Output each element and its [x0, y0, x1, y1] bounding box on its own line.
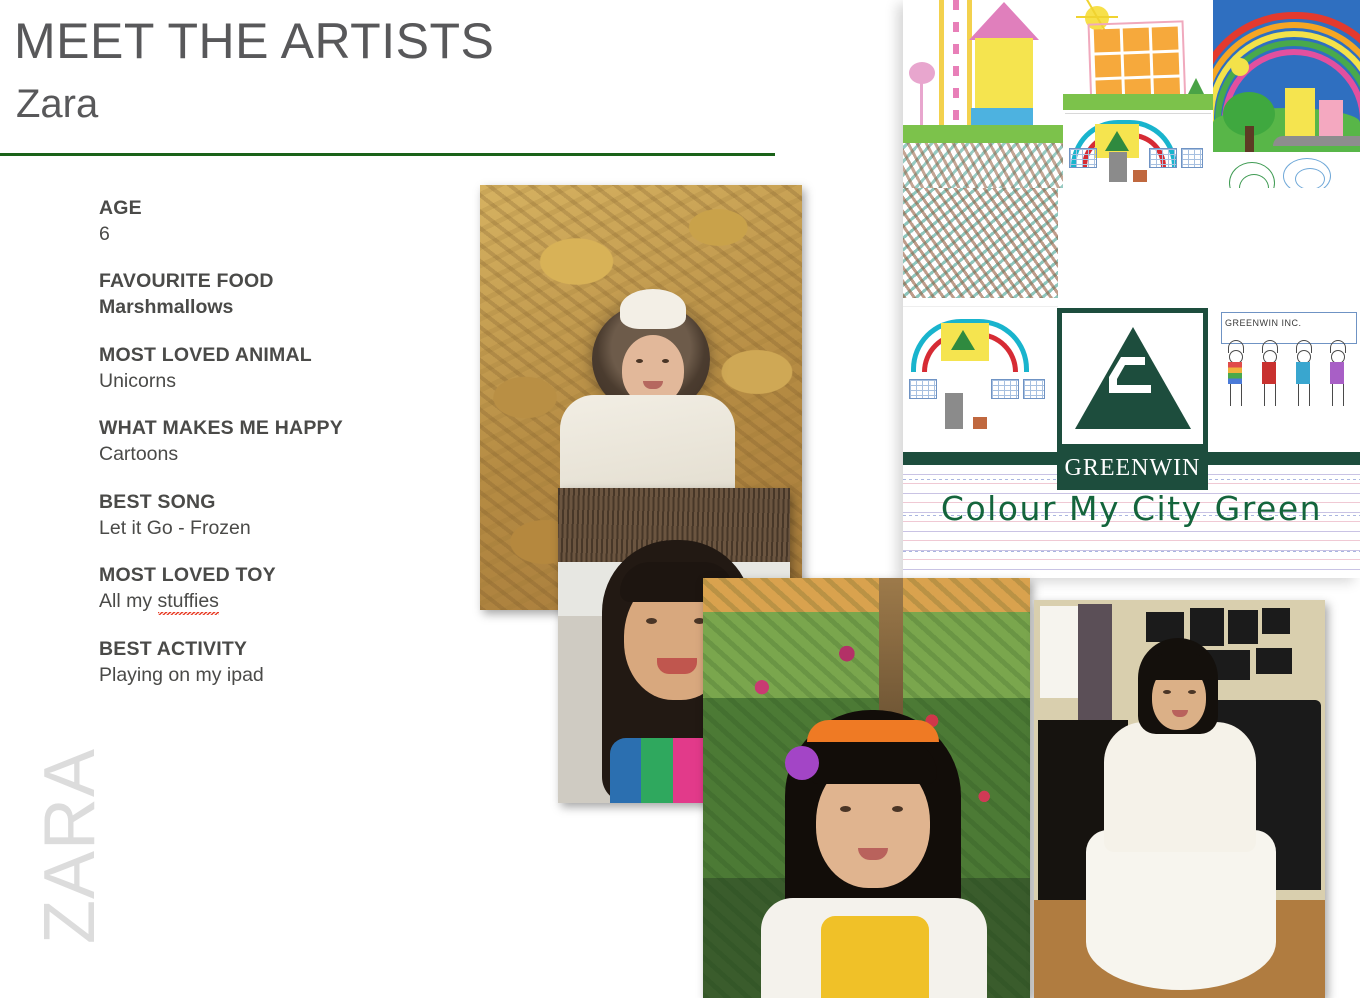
greenwin-logo: GREENWIN	[1057, 308, 1208, 490]
fact-best-song: BEST SONG Let it Go - Frozen	[99, 490, 479, 541]
greenwin-logo-plate	[1062, 313, 1203, 444]
fact-label: MOST LOVED ANIMAL	[99, 343, 479, 369]
drawing-kids-banner: GREENWIN INC.	[1215, 306, 1360, 436]
fact-most-loved-toy: MOST LOVED TOY All my stuffies	[99, 563, 479, 614]
fact-value: Unicorns	[99, 369, 176, 395]
drawing-banner-text: GREENWIN INC.	[1225, 318, 1302, 328]
page-subtitle: Zara	[16, 82, 98, 126]
fact-most-loved-animal: MOST LOVED ANIMAL Unicorns	[99, 343, 479, 394]
sun-smiley-icon	[1231, 58, 1249, 76]
fact-label: BEST SONG	[99, 490, 479, 516]
fact-label: BEST ACTIVITY	[99, 637, 479, 663]
fact-label: WHAT MAKES ME HAPPY	[99, 416, 479, 442]
photo-dress	[1034, 600, 1325, 998]
fact-what-makes-me-happy: WHAT MAKES ME HAPPY Cartoons	[99, 416, 479, 467]
drawing-brown-teal-scribble	[903, 188, 1058, 298]
zara-watermark: ZARA	[34, 731, 106, 961]
profile-fact-list: AGE 6 FAVOURITE FOOD Marshmallows MOST L…	[99, 196, 479, 688]
greenwin-wordmark: GREENWIN	[1057, 455, 1208, 482]
title-divider	[0, 153, 775, 156]
fact-value: 6	[99, 222, 110, 248]
drawing-arch-house	[903, 306, 1058, 437]
misspelled-word: stuffies	[158, 590, 219, 615]
fact-label: AGE	[99, 196, 479, 222]
fact-label: MOST LOVED TOY	[99, 563, 479, 589]
fact-value: Cartoons	[99, 442, 178, 468]
photo-garden	[703, 578, 1030, 998]
fact-age: AGE 6	[99, 196, 479, 247]
fact-value: Playing on my ipad	[99, 663, 264, 689]
fact-favourite-food: FAVOURITE FOOD Marshmallows	[99, 269, 479, 320]
artwork-panel: GREENWIN INC. GREENWIN Colour My City Gr…	[903, 0, 1360, 578]
fact-label: FAVOURITE FOOD	[99, 269, 479, 295]
fact-value-prefix: All my	[99, 590, 158, 612]
fact-value: Marshmallows	[99, 295, 233, 321]
artwork-middle-row: GREENWIN INC. GREENWIN	[903, 188, 1360, 453]
drawing-castle	[903, 0, 1063, 188]
drawing-grid-building	[1063, 0, 1213, 188]
artwork-caption: Colour My City Green	[903, 489, 1360, 528]
fact-value: All my stuffies	[99, 589, 219, 615]
greenwin-triangle-g-icon	[1073, 323, 1193, 433]
fact-best-activity: BEST ACTIVITY Playing on my ipad	[99, 637, 479, 688]
page-title: MEET THE ARTISTS	[14, 14, 494, 68]
fact-value: Let it Go - Frozen	[99, 516, 251, 542]
